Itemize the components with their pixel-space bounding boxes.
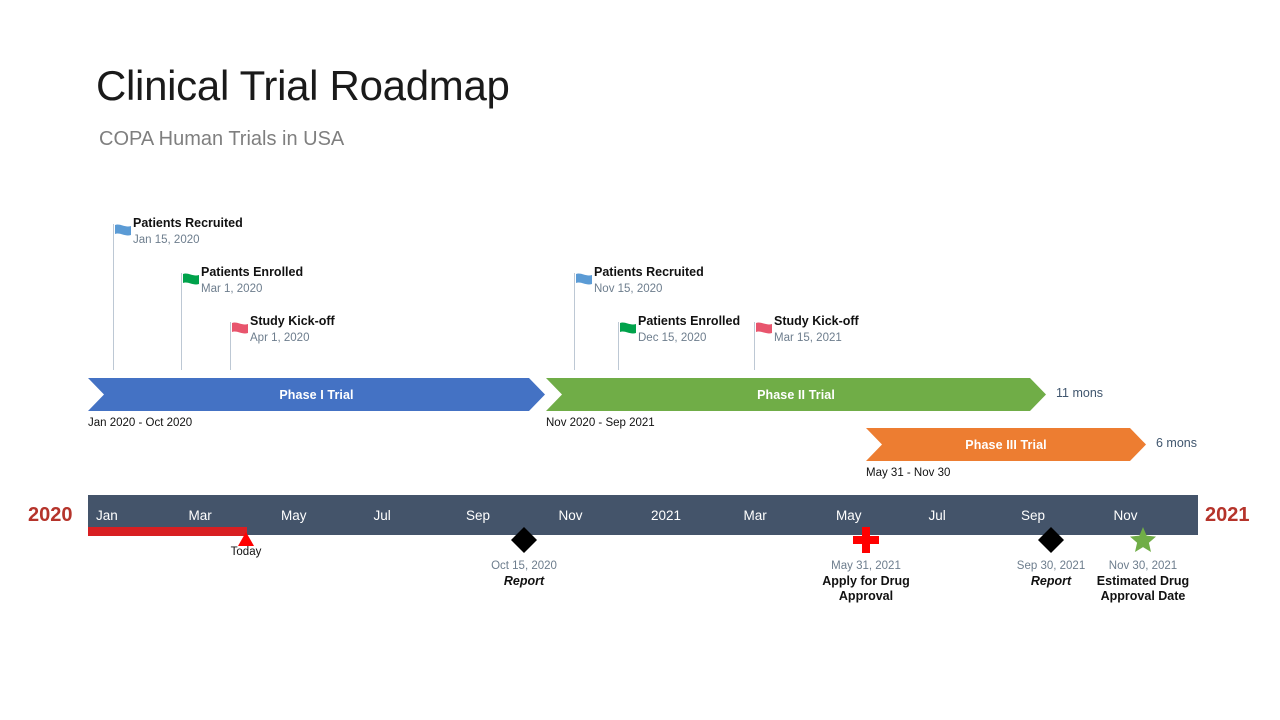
phase-duration: 11 mons [1056,386,1103,400]
flag-blue-icon [113,224,133,247]
star-icon [1130,527,1156,558]
flag-date: Apr 1, 2020 [250,331,335,346]
slide-canvas: Clinical Trial Roadmap COPA Human Trials… [0,0,1280,720]
page-subtitle: COPA Human Trials in USA [99,128,344,151]
phase-date-range: Nov 2020 - Sep 2021 [546,417,655,429]
phase-label: Phase I Trial [279,388,353,402]
marker-label: Apply for Drug Approval [806,574,926,604]
year-label-right: 2021 [1205,504,1250,527]
flag-label: Study Kick-off [250,314,335,329]
axis-tick-label: 2021 [651,495,681,535]
progress-bar [88,527,247,536]
marker-label: Report [1017,574,1085,589]
axis-tick-label: Nov [559,495,583,535]
flag-label: Patients Enrolled [638,314,740,329]
axis-tick-label: Jul [929,495,946,535]
axis-tick-label: Sep [466,495,490,535]
today-label: Today [231,546,262,558]
phase-duration: 6 mons [1156,436,1197,450]
phase-date-range: May 31 - Nov 30 [866,467,950,479]
phase-bar[interactable]: Phase I Trial [88,378,545,411]
diamond-icon [1038,527,1064,558]
flag-date: Nov 15, 2020 [594,282,704,297]
flag-date: Jan 15, 2020 [133,233,243,248]
phase-label: Phase III Trial [965,438,1046,452]
flag-green-icon [618,322,638,345]
page-title: Clinical Trial Roadmap [96,62,510,110]
phase-bar[interactable]: Phase II Trial [546,378,1046,411]
marker-label: Report [491,574,557,589]
cross-icon [853,527,879,558]
year-label-left: 2020 [28,504,73,527]
flag-red-icon [754,322,774,345]
axis-tick-label: Jul [374,495,391,535]
marker-date: Sep 30, 2021 [1017,559,1085,574]
marker-date: May 31, 2021 [806,559,926,574]
flag-blue-icon [574,273,594,296]
flag-label: Patients Recruited [594,265,704,280]
axis-tick-label: Mar [744,495,767,535]
marker-date: Oct 15, 2020 [491,559,557,574]
flag-label: Patients Enrolled [201,265,303,280]
flag-date: Mar 1, 2020 [201,282,303,297]
flag-date: Mar 15, 2021 [774,331,859,346]
flag-red-icon [230,322,250,345]
flag-green-icon [181,273,201,296]
marker-date: Nov 30, 2021 [1083,559,1203,574]
phase-bar[interactable]: Phase III Trial [866,428,1146,461]
phase-label: Phase II Trial [757,388,835,402]
diamond-icon [511,527,537,558]
marker-label: Estimated Drug Approval Date [1083,574,1203,604]
flag-date: Dec 15, 2020 [638,331,740,346]
flag-label: Study Kick-off [774,314,859,329]
phase-date-range: Jan 2020 - Oct 2020 [88,417,192,429]
axis-tick-label: May [281,495,307,535]
flag-label: Patients Recruited [133,216,243,231]
